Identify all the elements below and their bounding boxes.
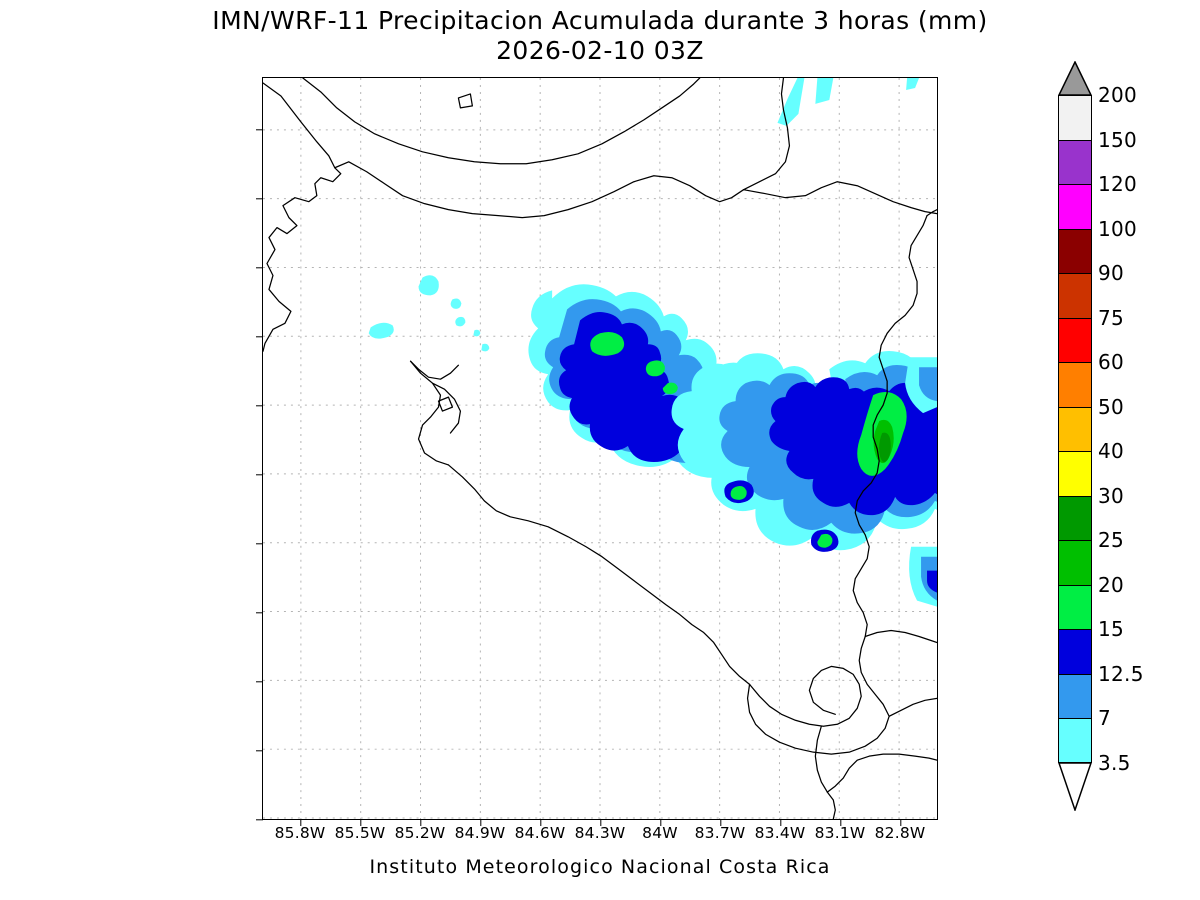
xtick-label-85.8W: 85.8W bbox=[275, 824, 326, 842]
colorbar-label-3.5: 3.5 bbox=[1098, 751, 1131, 775]
colorbar-label-7: 7 bbox=[1098, 706, 1111, 730]
colorbar-band-15 bbox=[1058, 629, 1092, 674]
colorbar-band-30 bbox=[1058, 496, 1092, 541]
source-attribution: Instituto Meteorologico Nacional Costa R… bbox=[0, 856, 1200, 878]
colorbar-band-120 bbox=[1058, 184, 1092, 229]
ytick-mark bbox=[256, 681, 263, 682]
colorbar-label-75: 75 bbox=[1098, 306, 1124, 330]
ytick-mark bbox=[256, 336, 263, 337]
ytick-mark bbox=[256, 543, 263, 544]
colorbar-top-arrow-icon bbox=[1058, 61, 1092, 96]
colorbar-band-200 bbox=[1058, 95, 1092, 140]
precipitation-contours bbox=[369, 78, 937, 607]
ytick-mark bbox=[256, 474, 263, 475]
colorbar-band-20 bbox=[1058, 585, 1092, 630]
colorbar-label-100: 100 bbox=[1098, 217, 1137, 241]
xtick-label-83.1W: 83.1W bbox=[815, 824, 866, 842]
colorbar-band-150 bbox=[1058, 140, 1092, 185]
colorbar-band-60 bbox=[1058, 362, 1092, 407]
precipitation-map bbox=[263, 78, 937, 819]
chart-title-block: IMN/WRF-11 Precipitacion Acumulada duran… bbox=[0, 6, 1200, 66]
chart-subtitle: 2026-02-10 03Z bbox=[0, 36, 1200, 66]
colorbar-label-50: 50 bbox=[1098, 395, 1124, 419]
map-clip-region bbox=[263, 78, 937, 819]
xtick-label-83.4W: 83.4W bbox=[755, 824, 806, 842]
xtick-label-84.3W: 84.3W bbox=[575, 824, 626, 842]
precip-band-3.5-offshore bbox=[777, 78, 919, 126]
colorbar-label-40: 40 bbox=[1098, 439, 1124, 463]
ytick-mark bbox=[256, 267, 263, 268]
xtick-label-82.8W: 82.8W bbox=[875, 824, 926, 842]
colorbar-band-90 bbox=[1058, 273, 1092, 318]
colorbar-band-50 bbox=[1058, 407, 1092, 452]
xtick-label-84W: 84W bbox=[642, 824, 678, 842]
colorbar-label-150: 150 bbox=[1098, 128, 1137, 152]
xtick-label-84.6W: 84.6W bbox=[515, 824, 566, 842]
colorbar-band-75 bbox=[1058, 318, 1092, 363]
xtick-label-85.2W: 85.2W bbox=[395, 824, 446, 842]
colorbar-label-20: 20 bbox=[1098, 573, 1124, 597]
colorbar-band-25 bbox=[1058, 540, 1092, 585]
colorbar-label-120: 120 bbox=[1098, 172, 1137, 196]
colorbar-label-60: 60 bbox=[1098, 350, 1124, 374]
page-title: IMN/WRF-11 Precipitacion Acumulada duran… bbox=[0, 6, 1200, 36]
ytick-mark bbox=[256, 612, 263, 613]
ytick-mark bbox=[256, 198, 263, 199]
colorbar-label-25: 25 bbox=[1098, 528, 1124, 552]
precipitation-colorbar: 200 150 120 100 90 75 60 50 40 30 25 20 … bbox=[1058, 95, 1092, 811]
colorbar-band-7 bbox=[1058, 718, 1092, 763]
colorbar-band-40 bbox=[1058, 451, 1092, 496]
precip-scattered-cells-3.5 bbox=[369, 275, 490, 351]
ytick-mark bbox=[256, 405, 263, 406]
colorbar-label-30: 30 bbox=[1098, 484, 1124, 508]
colorbar-label-200: 200 bbox=[1098, 83, 1137, 107]
colorbar-label-15: 15 bbox=[1098, 617, 1124, 641]
xtick-label-83.7W: 83.7W bbox=[695, 824, 746, 842]
xtick-label-84.9W: 84.9W bbox=[455, 824, 506, 842]
colorbar-band-100 bbox=[1058, 229, 1092, 274]
colorbar-bottom-arrow-icon bbox=[1058, 762, 1092, 811]
colorbar-label-90: 90 bbox=[1098, 261, 1124, 285]
ytick-mark bbox=[256, 129, 263, 130]
ytick-mark bbox=[256, 750, 263, 751]
map-plot-area bbox=[262, 77, 938, 820]
ytick-mark bbox=[256, 819, 263, 820]
colorbar-band-12.5 bbox=[1058, 674, 1092, 719]
colorbar-label-12.5: 12.5 bbox=[1098, 662, 1144, 686]
xtick-label-85.5W: 85.5W bbox=[335, 824, 386, 842]
